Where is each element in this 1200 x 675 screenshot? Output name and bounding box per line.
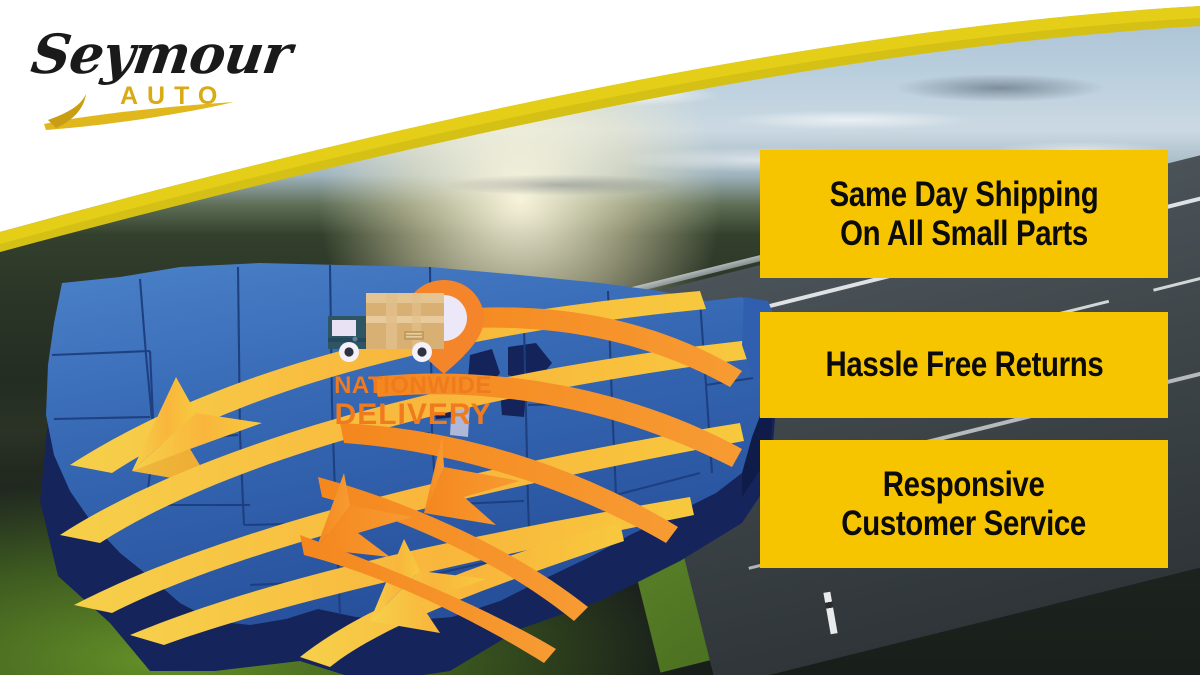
callout-box-responsive-customer-service[interactable]: Responsive Customer Service: [760, 440, 1168, 568]
logo-swoosh-icon: [22, 92, 242, 132]
nationwide-delivery-label: NATIONWIDE DELIVERY: [318, 374, 508, 430]
callout-text-0: Same Day Shipping On All Small Parts: [830, 175, 1099, 253]
brand-logo[interactable]: Seymour AUTO: [22, 18, 252, 123]
promo-banner: NATIONWIDE DELIVERY Seymour AUTO Same Da…: [0, 0, 1200, 675]
delivery-truck-icon: [318, 276, 508, 376]
callout-box-hassle-free-returns[interactable]: Hassle Free Returns: [760, 312, 1168, 418]
badge-line-2: DELIVERY: [318, 399, 508, 430]
brand-name: Seymour: [28, 22, 296, 86]
callout-text-2: Responsive Customer Service: [842, 465, 1087, 543]
nationwide-delivery-badge: NATIONWIDE DELIVERY: [318, 276, 508, 451]
truck-cargo-box: [366, 293, 444, 349]
callout-text-1: Hassle Free Returns: [825, 345, 1103, 384]
callout-box-same-day-shipping[interactable]: Same Day Shipping On All Small Parts: [760, 150, 1168, 278]
badge-line-1: NATIONWIDE: [318, 374, 508, 399]
